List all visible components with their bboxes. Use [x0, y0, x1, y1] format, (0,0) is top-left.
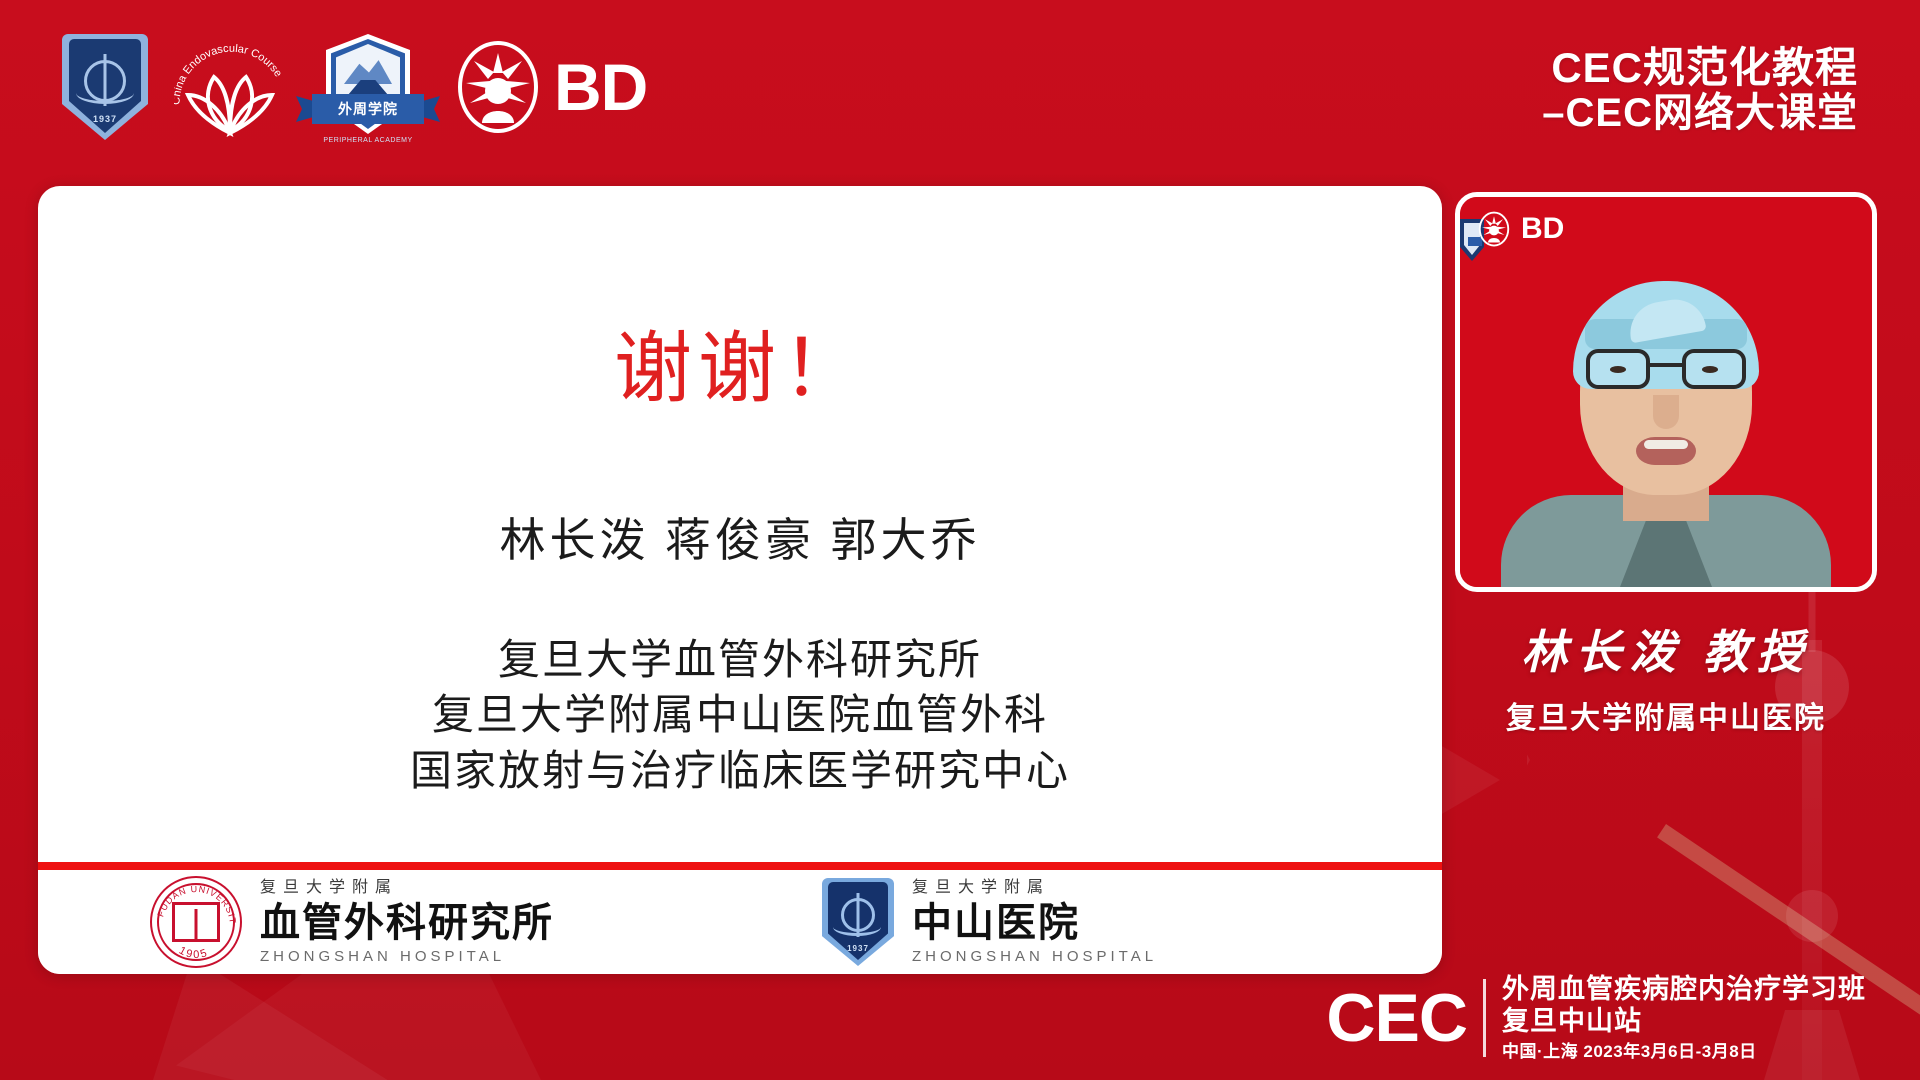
- zhongshan-line2: 中山医院: [912, 903, 1157, 943]
- zhongshan-hospital-shield-icon: 1937: [62, 34, 148, 140]
- zhongshan-hospital-text: 复旦大学附属 中山医院 ZHONGSHAN HOSPITAL: [912, 880, 1157, 964]
- vascular-institute-text: 复旦大学附属 血管外科研究所 ZHONGSHAN HOSPITAL: [260, 880, 554, 964]
- event-branding-bar: CEC 外周血管疾病腔内治疗学习班 复旦中山站 中国·上海 2023年3月6日-…: [1326, 974, 1866, 1062]
- zhongshan-line3: ZHONGSHAN HOSPITAL: [912, 949, 1157, 964]
- speaker-video-panel[interactable]: BD: [1455, 192, 1877, 592]
- affiliation-line-1: 复旦大学血管外科研究所: [38, 634, 1442, 689]
- slide-panel: 谢谢！ 林长泼 蒋俊豪 郭大乔 复旦大学血管外科研究所 复旦大学附属中山医院血管…: [38, 186, 1442, 974]
- slide-footer: FUDAN UNIVERSITY 1905 复旦大学附属 血管外科研究所 ZHO…: [38, 870, 1442, 974]
- svg-text:FUDAN UNIVERSITY: FUDAN UNIVERSITY: [150, 876, 238, 925]
- bd-wordmark: BD: [554, 54, 647, 120]
- slide-separator: [38, 862, 1442, 870]
- speaker-video-image: [1460, 287, 1872, 587]
- header-bar: 1937 China Endovascular Course: [0, 0, 1920, 178]
- cec-divider: [1483, 979, 1486, 1057]
- bd-watermark-label: BD: [1521, 214, 1564, 244]
- china-endovascular-course-lotus-icon: China Endovascular Course: [174, 33, 286, 141]
- svg-text:1905: 1905: [177, 945, 210, 962]
- affiliation-line-3: 国家放射与治疗临床医学研究中心: [38, 745, 1442, 800]
- event-datetime: 中国·上海 2023年3月6日-3月8日: [1502, 1042, 1866, 1062]
- bd-sunburst-icon-small: [1476, 211, 1512, 247]
- shield-year-label-small: 1937: [822, 944, 894, 953]
- affiliation-list: 复旦大学血管外科研究所 复旦大学附属中山医院血管外科 国家放射与治疗临床医学研究…: [38, 634, 1442, 800]
- sponsor-logo-row: 1937 China Endovascular Course: [62, 32, 647, 142]
- event-details: 外周血管疾病腔内治疗学习班 复旦中山站 中国·上海 2023年3月6日-3月8日: [1502, 974, 1866, 1062]
- speaker-name: 林长泼 教授: [1455, 628, 1877, 679]
- vascular-institute-line2: 血管外科研究所: [260, 903, 554, 943]
- vascular-institute-line3: ZHONGSHAN HOSPITAL: [260, 949, 554, 964]
- course-title-line2: –CEC网络大课堂: [1542, 91, 1858, 136]
- shield-year-label: 1937: [62, 114, 148, 124]
- zhongshan-line1: 复旦大学附属: [912, 880, 1157, 896]
- zhongshan-hospital-shield-icon-small: 1937: [822, 878, 894, 966]
- vascular-institute-line1: 复旦大学附属: [260, 880, 554, 896]
- author-names: 林长泼 蒋俊豪 郭大乔: [38, 504, 1442, 570]
- event-name-line2: 复旦中山站: [1502, 1006, 1866, 1038]
- speaker-organization: 复旦大学附属中山医院: [1455, 693, 1877, 737]
- bd-logo: BD: [456, 39, 647, 135]
- course-title-line1: CEC规范化教程: [1542, 44, 1858, 91]
- fudan-university-seal-icon: FUDAN UNIVERSITY 1905: [150, 876, 242, 968]
- peripheral-academy-badge-icon: 外周学院 PERIPHERAL ACADEMY: [312, 32, 424, 142]
- presentation-stage: 1937 China Endovascular Course: [0, 0, 1920, 1080]
- slide-body: 谢谢！ 林长泼 蒋俊豪 郭大乔 复旦大学血管外科研究所 复旦大学附属中山医院血管…: [38, 186, 1442, 862]
- bd-sunburst-icon: [456, 39, 540, 135]
- course-title: CEC规范化教程 –CEC网络大课堂: [1542, 44, 1858, 136]
- badge-label: 外周学院: [312, 94, 424, 124]
- zhongshan-hospital-logo: 1937 复旦大学附属 中山医院 ZHONGSHAN HOSPITAL: [822, 878, 1157, 966]
- cec-wordmark: CEC: [1326, 984, 1467, 1052]
- affiliation-line-2: 复旦大学附属中山医院血管外科: [38, 689, 1442, 744]
- thanks-heading: 谢谢！: [38, 306, 1442, 418]
- event-name-line1: 外周血管疾病腔内治疗学习班: [1502, 974, 1866, 1006]
- badge-sublabel: PERIPHERAL ACADEMY: [312, 137, 424, 144]
- vascular-institute-logo: FUDAN UNIVERSITY 1905 复旦大学附属 血管外科研究所 ZHO…: [150, 876, 554, 968]
- bd-watermark: BD: [1476, 211, 1564, 247]
- speaker-caption: 林长泼 教授 复旦大学附属中山医院: [1455, 628, 1877, 737]
